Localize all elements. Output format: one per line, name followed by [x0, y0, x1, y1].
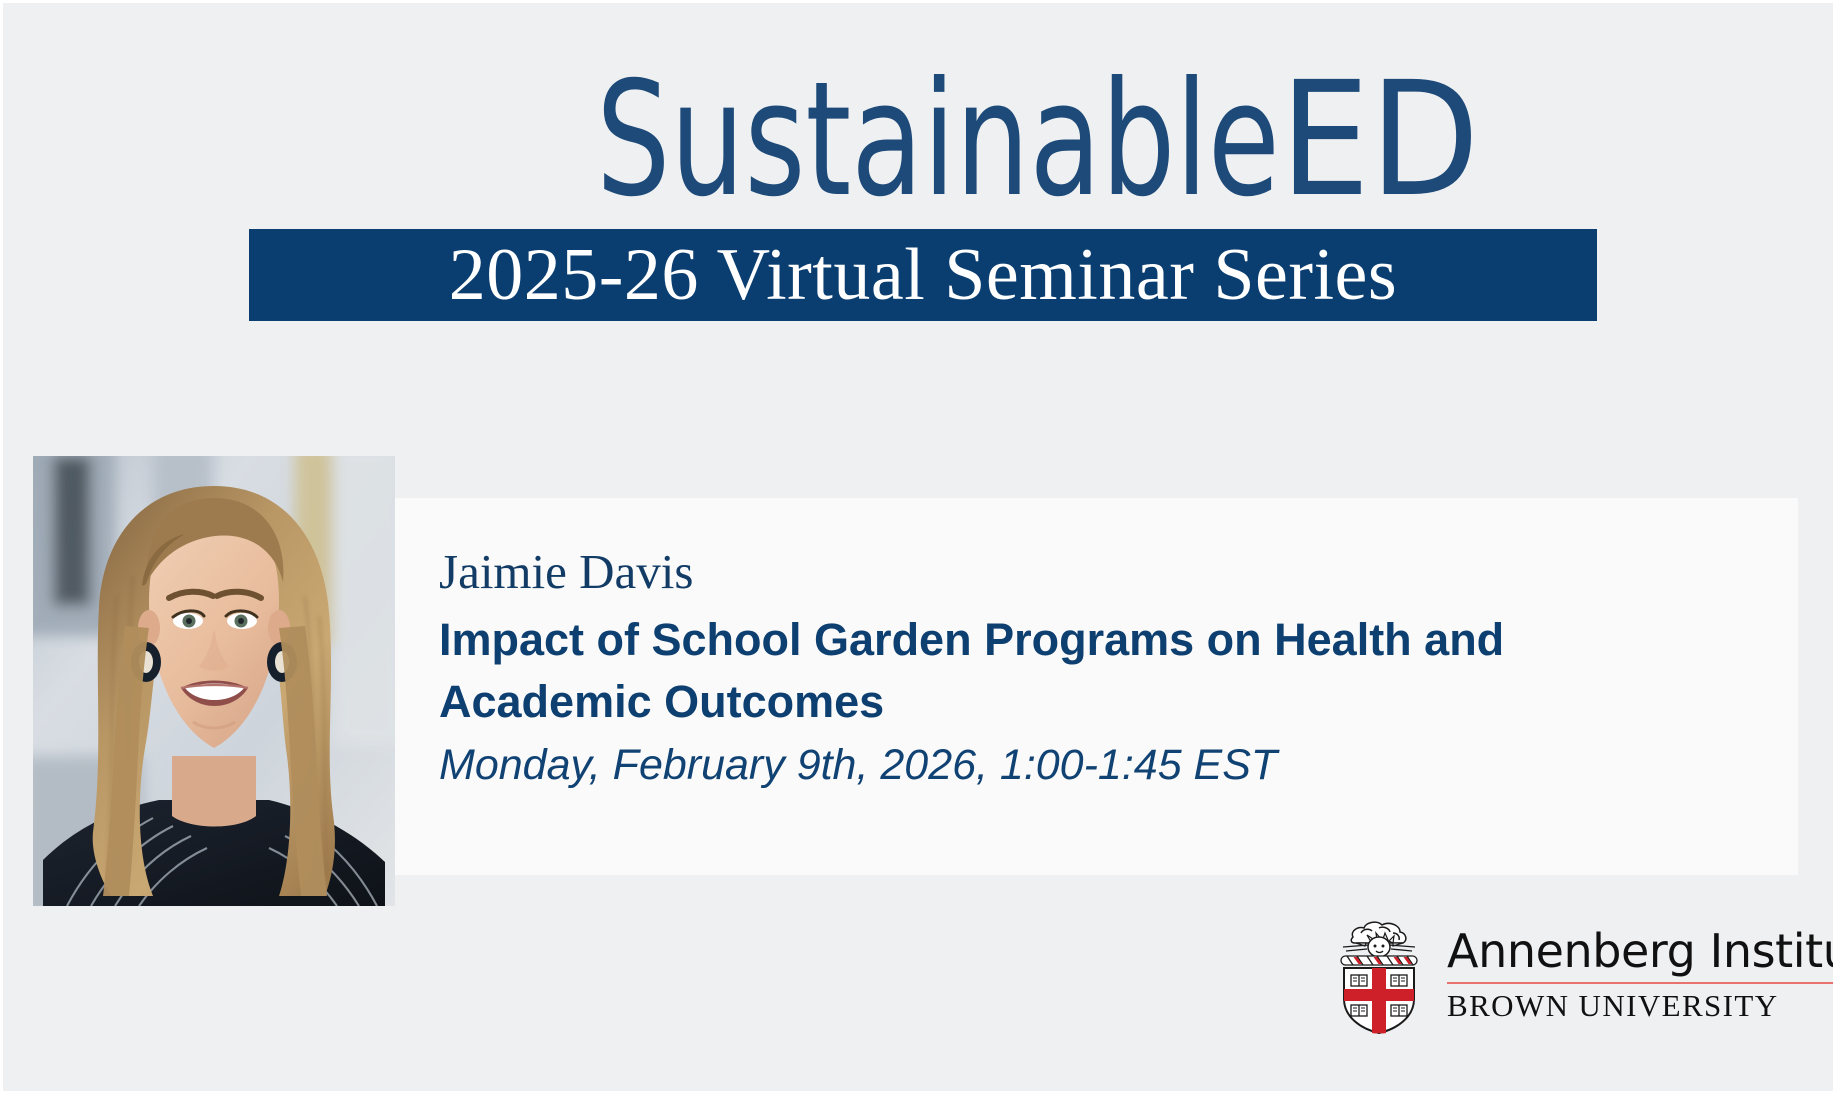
- talk-datetime: Monday, February 9th, 2026, 1:00-1:45 ES…: [439, 738, 1798, 794]
- series-banner-label: 2025-26 Virtual Seminar Series: [449, 238, 1397, 312]
- logo-wordmark: Annenberg Institute BROWN UNIVERSITY: [1447, 927, 1836, 1022]
- logo-university-name: BROWN UNIVERSITY: [1447, 990, 1836, 1023]
- brand-name-suffix: ED: [1280, 61, 1479, 219]
- brown-university-crest-icon: [1333, 915, 1425, 1035]
- logo-divider-rule: [1447, 982, 1836, 984]
- speaker-info-card-body: Jaimie Davis Impact of School Garden Pro…: [395, 498, 1798, 794]
- speaker-info-card: Jaimie Davis Impact of School Garden Pro…: [395, 498, 1798, 875]
- talk-title: Impact of School Garden Programs on Heal…: [439, 609, 1704, 731]
- brand-name-primary: Sustainable: [597, 61, 1281, 219]
- page-title: SustainableED: [249, 61, 1609, 219]
- brand-lockup: SustainableED 2025-26 Virtual Seminar Se…: [249, 61, 1609, 321]
- speaker-name: Jaimie Davis: [439, 546, 1798, 597]
- speaker-headshot-photo: [33, 456, 395, 906]
- seminar-announcement-slide: SustainableED 2025-26 Virtual Seminar Se…: [0, 0, 1836, 1094]
- series-banner: 2025-26 Virtual Seminar Series: [249, 229, 1597, 321]
- logo-institute-name: Annenberg Institute: [1447, 927, 1836, 977]
- annenberg-brown-logo: Annenberg Institute BROWN UNIVERSITY: [1333, 915, 1836, 1035]
